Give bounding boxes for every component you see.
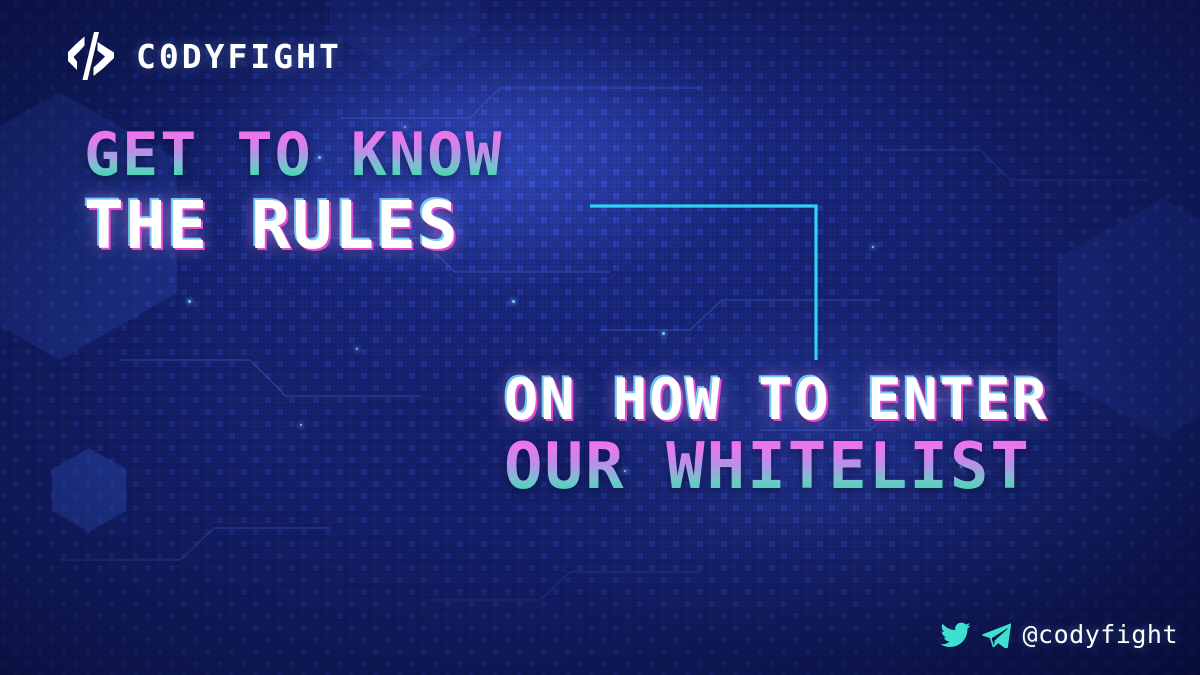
headline-block-secondary: ON HOW TO ENTER OUR WHITELIST (504, 372, 1049, 500)
code-bracket-logo-icon (62, 30, 120, 82)
twitter-bird-icon[interactable] (940, 622, 971, 648)
brand-wordmark: C0DYFIGHT (136, 37, 342, 76)
headline-line-our-whitelist: OUR WHITELIST (504, 436, 1049, 499)
corner-bracket-decoration (588, 198, 828, 368)
social-handles: @codyfight (940, 620, 1178, 649)
promo-banner: C0DYFIGHT GET TO KNOW THE RULES ON HOW T… (0, 0, 1200, 675)
social-handle-text: @codyfight (1022, 620, 1178, 649)
headline-line-the-rules: THE RULES (84, 193, 503, 258)
headline-block-primary: GET TO KNOW THE RULES (84, 126, 503, 259)
brand-logo: C0DYFIGHT (62, 30, 342, 82)
telegram-plane-icon[interactable] (982, 622, 1011, 648)
headline-line-get-to-know: GET TO KNOW (84, 126, 503, 185)
headline-line-on-how-to-enter: ON HOW TO ENTER (504, 372, 1049, 428)
